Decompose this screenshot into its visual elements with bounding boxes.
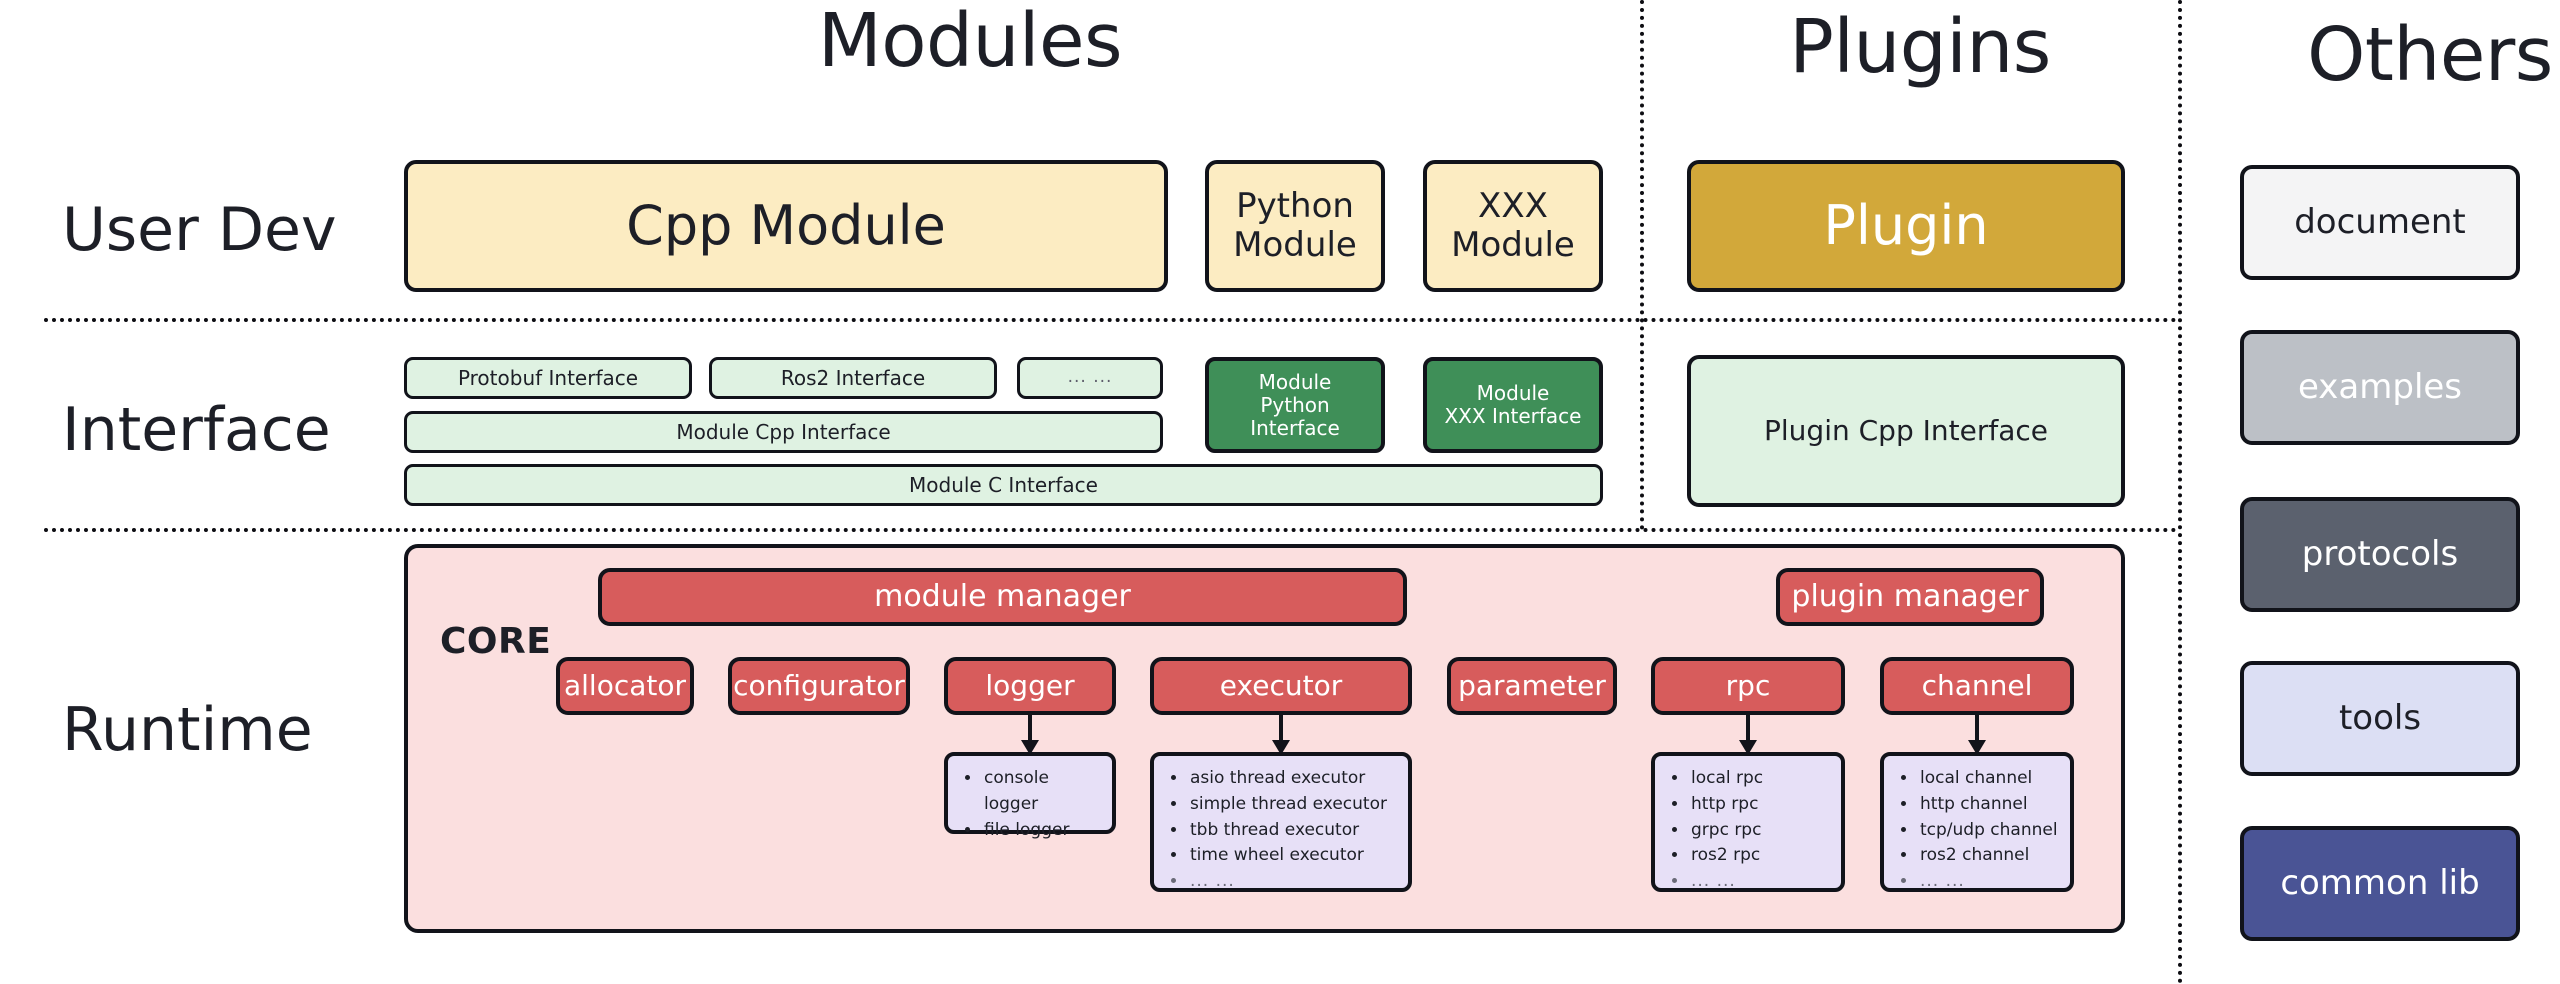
detail-box-rpc[interactable]: local rpc http rpc grpc rpc ros2 rpc ...… [1651, 752, 1845, 892]
vertical-divider-plugins-others [2178, 0, 2182, 984]
node-others-tools[interactable]: tools [2240, 661, 2520, 776]
list-item: ... ... [1689, 869, 1829, 895]
list-item: local channel [1918, 766, 2058, 792]
node-module-xxx-interface[interactable]: Module XXX Interface [1423, 357, 1603, 453]
node-protobuf-interface[interactable]: Protobuf Interface [404, 357, 692, 399]
node-ros2-interface[interactable]: Ros2 Interface [709, 357, 997, 399]
detail-box-logger[interactable]: console logger file logger [944, 752, 1116, 834]
node-module-python-interface[interactable]: Module Python Interface [1205, 357, 1385, 453]
core-label: CORE [440, 624, 551, 660]
node-plugin-cpp-interface[interactable]: Plugin Cpp Interface [1687, 355, 2125, 507]
node-component-rpc[interactable]: rpc [1651, 657, 1845, 715]
list-item: simple thread executor [1188, 792, 1396, 818]
row-label-interface: Interface [62, 400, 331, 460]
detail-box-executor[interactable]: asio thread executor simple thread execu… [1150, 752, 1412, 892]
node-component-logger[interactable]: logger [944, 657, 1116, 715]
node-interface-ellipsis-label: ... ... [1068, 368, 1113, 388]
row-label-runtime: Runtime [62, 700, 313, 760]
node-component-rpc-label: rpc [1726, 670, 1771, 702]
node-component-configurator-label: configurator [733, 670, 905, 702]
list-item: tbb thread executor [1188, 818, 1396, 844]
node-component-configurator[interactable]: configurator [728, 657, 910, 715]
node-component-channel[interactable]: channel [1880, 657, 2074, 715]
list-item: grpc rpc [1689, 818, 1829, 844]
node-component-channel-label: channel [1922, 670, 2033, 702]
node-module-xxx-interface-label-line2: XXX Interface [1444, 405, 1581, 428]
node-component-parameter[interactable]: parameter [1447, 657, 1617, 715]
node-xxx-module-label-line2: Module [1451, 226, 1575, 265]
list-item: http rpc [1689, 792, 1829, 818]
node-cpp-module-label: Cpp Module [626, 195, 946, 257]
node-module-manager[interactable]: module manager [598, 568, 1407, 626]
horizontal-divider-interface-runtime [44, 528, 2178, 532]
list-item: http channel [1918, 792, 2058, 818]
vertical-divider-modules-plugins [1640, 0, 1644, 530]
node-plugin[interactable]: Plugin [1687, 160, 2125, 292]
list-item: console logger [982, 766, 1100, 818]
node-others-common-lib-label: common lib [2280, 864, 2479, 903]
detail-list-channel: local channel http channel tcp/udp chann… [1896, 766, 2058, 895]
node-others-examples[interactable]: examples [2240, 330, 2520, 445]
list-item: tcp/udp channel [1918, 818, 2058, 844]
node-module-c-interface[interactable]: Module C Interface [404, 464, 1603, 506]
list-item: file logger [982, 818, 1100, 844]
arrow-channel-down [1957, 715, 1997, 755]
detail-list-executor: asio thread executor simple thread execu… [1166, 766, 1396, 895]
horizontal-divider-userdev-interface [44, 318, 2178, 322]
node-component-allocator[interactable]: allocator [556, 657, 694, 715]
node-others-protocols[interactable]: protocols [2240, 497, 2520, 612]
node-component-parameter-label: parameter [1458, 670, 1606, 702]
node-cpp-module[interactable]: Cpp Module [404, 160, 1168, 292]
node-module-cpp-interface[interactable]: Module Cpp Interface [404, 411, 1163, 453]
node-plugin-manager-label: plugin manager [1791, 580, 2028, 615]
node-module-manager-label: module manager [874, 580, 1131, 615]
arrow-executor-down [1261, 715, 1301, 755]
node-plugin-cpp-interface-label: Plugin Cpp Interface [1764, 415, 2048, 447]
node-others-examples-label: examples [2298, 368, 2462, 407]
node-plugin-manager[interactable]: plugin manager [1776, 568, 2044, 626]
list-item: asio thread executor [1188, 766, 1396, 792]
node-component-executor-label: executor [1220, 670, 1342, 702]
node-module-c-interface-label: Module C Interface [909, 474, 1098, 497]
row-label-user-dev: User Dev [62, 200, 336, 260]
arrow-logger-down [1010, 715, 1050, 755]
detail-box-channel[interactable]: local channel http channel tcp/udp chann… [1880, 752, 2074, 892]
node-component-allocator-label: allocator [564, 670, 686, 702]
node-python-module[interactable]: Python Module [1205, 160, 1385, 292]
node-component-logger-label: logger [985, 670, 1074, 702]
node-others-tools-label: tools [2339, 699, 2421, 738]
node-others-document-label: document [2294, 203, 2466, 242]
node-xxx-module-label-line1: XXX [1478, 187, 1548, 226]
node-others-protocols-label: protocols [2302, 535, 2458, 574]
list-item: ... ... [1188, 869, 1396, 895]
node-module-cpp-interface-label: Module Cpp Interface [676, 421, 890, 444]
node-module-python-interface-label-line1: Module [1259, 371, 1332, 394]
node-protobuf-interface-label: Protobuf Interface [458, 367, 638, 390]
arrow-rpc-down [1728, 715, 1768, 755]
column-header-others: Others [2030, 18, 2560, 92]
node-plugin-label: Plugin [1823, 195, 1988, 257]
list-item: local rpc [1689, 766, 1829, 792]
architecture-diagram: Modules Plugins Others User Dev Interfac… [0, 0, 2560, 984]
column-header-modules: Modules [730, 4, 1210, 78]
node-interface-ellipsis[interactable]: ... ... [1017, 357, 1163, 399]
list-item: ... ... [1918, 869, 2058, 895]
node-xxx-module[interactable]: XXX Module [1423, 160, 1603, 292]
list-item: ros2 rpc [1689, 843, 1829, 869]
node-python-module-label-line1: Python [1236, 187, 1354, 226]
node-module-xxx-interface-label-line1: Module [1477, 382, 1550, 405]
list-item: time wheel executor [1188, 843, 1396, 869]
node-module-python-interface-label-line2: Python Interface [1215, 394, 1375, 440]
node-others-document[interactable]: document [2240, 165, 2520, 280]
list-item: ros2 channel [1918, 843, 2058, 869]
node-python-module-label-line2: Module [1233, 226, 1357, 265]
node-component-executor[interactable]: executor [1150, 657, 1412, 715]
detail-list-logger: console logger file logger [960, 766, 1100, 843]
node-ros2-interface-label: Ros2 Interface [781, 367, 925, 390]
node-others-common-lib[interactable]: common lib [2240, 826, 2520, 941]
detail-list-rpc: local rpc http rpc grpc rpc ros2 rpc ...… [1667, 766, 1829, 895]
